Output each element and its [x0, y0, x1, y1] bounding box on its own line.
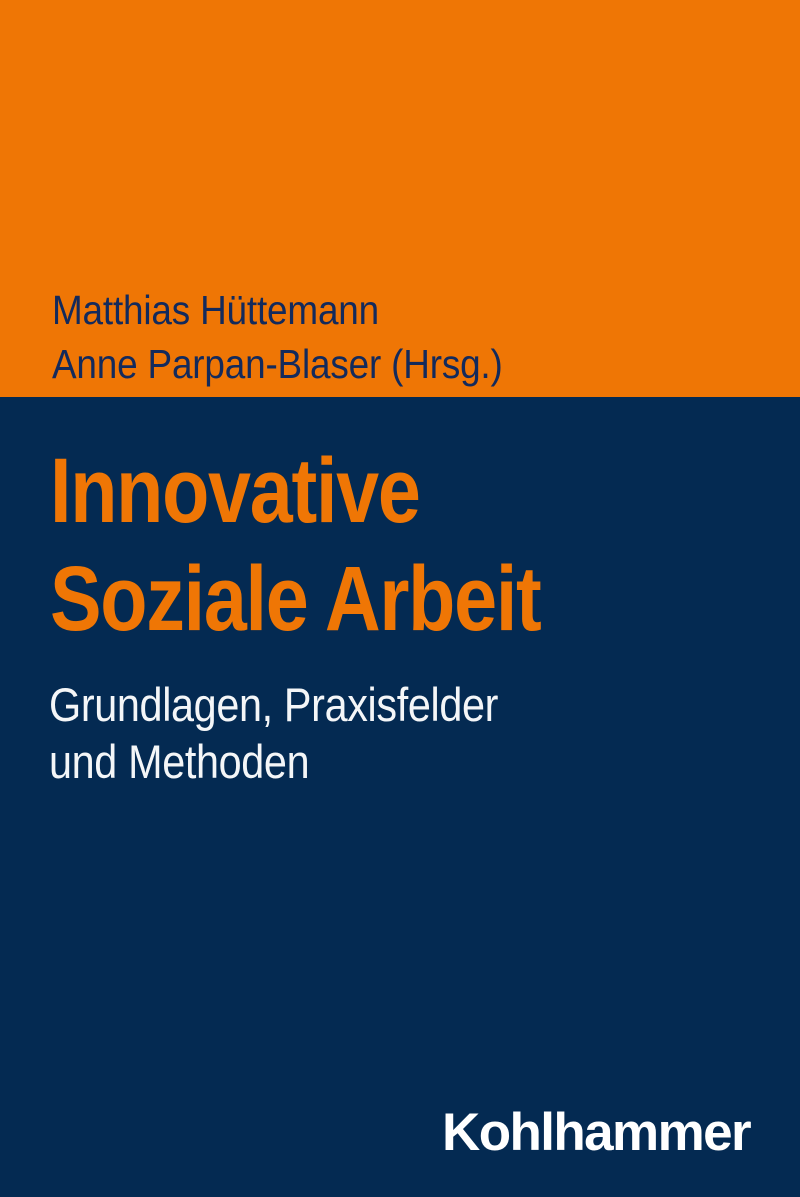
- editor-name-line-1: Matthias Hüttemann: [52, 283, 682, 337]
- subtitle-line-2: und Methoden: [49, 733, 700, 790]
- subtitle-line-1: Grundlagen, Praxisfelder: [49, 676, 700, 733]
- book-subtitle: Grundlagen, Praxisfelder und Methoden: [49, 676, 700, 790]
- editor-name-line-2: Anne Parpan-Blaser (Hrsg.): [52, 337, 682, 391]
- book-title: Innovative Soziale Arbeit: [50, 437, 672, 653]
- title-line-2: Soziale Arbeit: [50, 545, 672, 653]
- editors-block: Matthias Hüttemann Anne Parpan-Blaser (H…: [52, 283, 682, 391]
- title-line-1: Innovative: [50, 437, 672, 545]
- book-cover: Matthias Hüttemann Anne Parpan-Blaser (H…: [0, 0, 800, 1197]
- publisher-logo: Kohlhammer: [442, 1105, 750, 1161]
